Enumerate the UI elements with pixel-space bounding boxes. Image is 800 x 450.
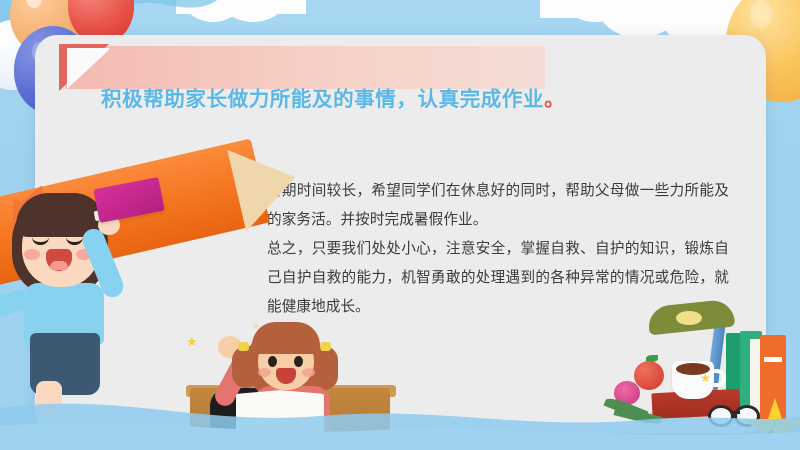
hair-tie-icon [238, 342, 249, 351]
girl-hair-front [252, 322, 320, 354]
book-spine-label [764, 357, 782, 362]
kid-tongue [50, 261, 68, 270]
girl-eye [268, 356, 277, 367]
cup-handle [710, 369, 726, 387]
page-title-period: 。 [544, 88, 565, 111]
bottom-blue-wave [0, 386, 800, 450]
lamp-bulb [676, 311, 702, 325]
body-paragraph: 暑期时间较长，希望同学们在休息好的同时，帮助父母做一些力所能及的家务活。并按时完… [267, 177, 729, 235]
hair-tie-icon [320, 342, 331, 351]
pink-book-icon [93, 177, 164, 223]
slide-canvas: 积极帮助家长做力所能及的事情，认真完成作业。 暑期时间较长，希望同学们在休息好的… [0, 0, 800, 450]
girl-cheek [258, 368, 271, 377]
page-title-text: 积极帮助家长做力所能及的事情，认真完成作业 [101, 88, 544, 111]
kid-cheek [24, 249, 40, 260]
girl-eye [294, 356, 303, 367]
page-title: 积极帮助家长做力所能及的事情，认真完成作业。 [101, 82, 565, 112]
girl-cheek [302, 368, 315, 377]
